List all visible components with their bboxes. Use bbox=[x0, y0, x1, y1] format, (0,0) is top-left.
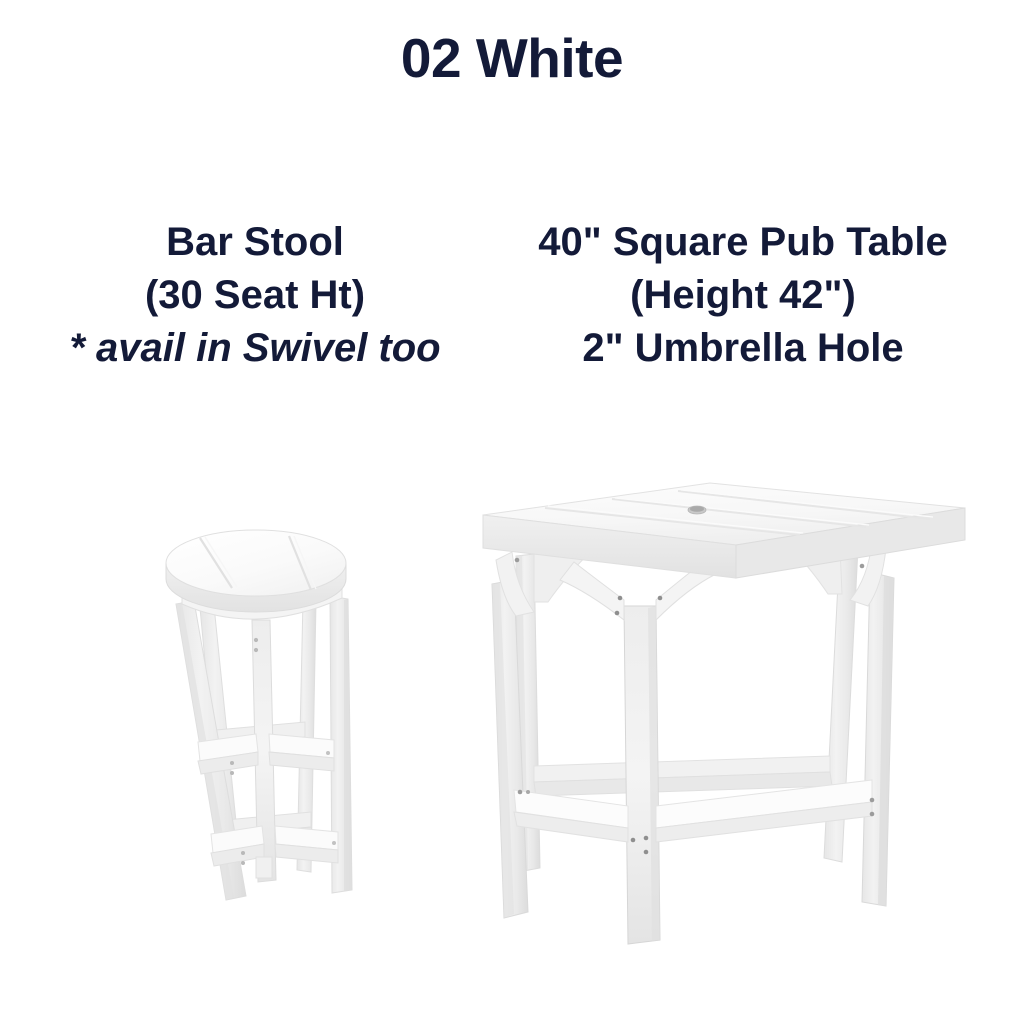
pub-table-caption: 40" Square Pub Table (Height 42") 2" Umb… bbox=[483, 216, 1003, 375]
bar-stool-caption: Bar Stool (30 Seat Ht) * avail in Swivel… bbox=[30, 216, 480, 375]
bar-stool-caption-line-3: * avail in Swivel too bbox=[30, 322, 480, 375]
bar-stool-caption-line-1: Bar Stool bbox=[30, 216, 480, 269]
caption-row: Bar Stool (30 Seat Ht) * avail in Swivel… bbox=[0, 216, 1024, 396]
product-color-card: 02 White Bar Stool (30 Seat Ht) * avail … bbox=[0, 0, 1024, 1024]
pub-table-illustration bbox=[483, 483, 965, 944]
umbrella-hole bbox=[688, 506, 706, 514]
pub-table-caption-line-3: 2" Umbrella Hole bbox=[483, 322, 1003, 375]
pub-table-caption-line-1: 40" Square Pub Table bbox=[483, 216, 1003, 269]
bar-stool-illustration bbox=[166, 530, 352, 900]
product-illustrations bbox=[0, 0, 1024, 1024]
bar-stool-caption-line-2: (30 Seat Ht) bbox=[30, 269, 480, 322]
pub-table-caption-line-2: (Height 42") bbox=[483, 269, 1003, 322]
page-title: 02 White bbox=[0, 28, 1024, 89]
